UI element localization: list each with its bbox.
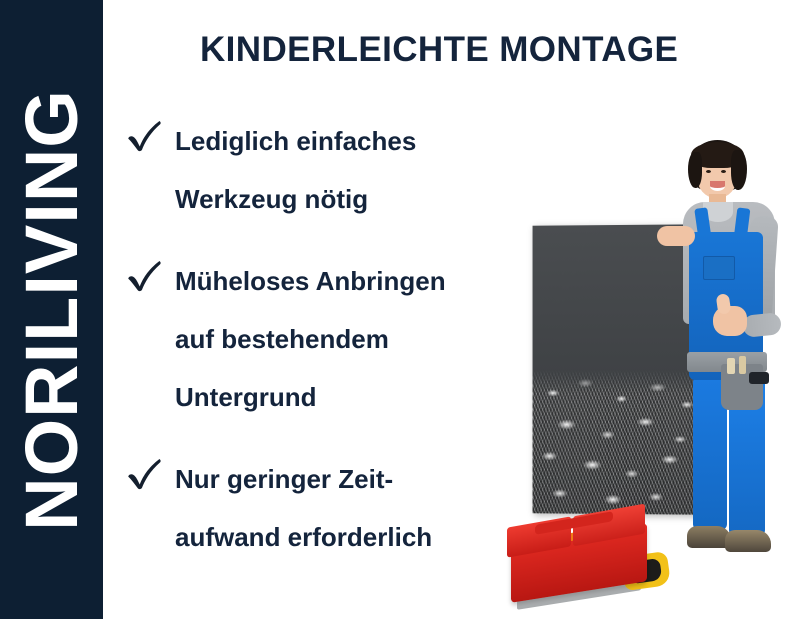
worker-arm-right <box>742 312 782 338</box>
brand-sidebar: NORILIVING <box>0 0 103 619</box>
belt-tool-c <box>749 372 769 384</box>
list-item-line: Untergrund <box>175 368 526 426</box>
list-item-line: Lediglich einfaches <box>175 112 526 170</box>
worker-smile <box>710 181 725 191</box>
page-title: KINDERLEICHTE MONTAGE <box>200 32 678 67</box>
promo-banner: NORILIVING KINDERLEICHTE MONTAGE Ledigli… <box>0 0 799 619</box>
list-item: Lediglich einfaches Werkzeug nötig <box>126 112 526 228</box>
overall-bib-pocket <box>703 256 735 280</box>
list-item-text: Müheloses Anbringen auf bestehendem Unte… <box>175 252 526 426</box>
list-item-line: Nur geringer Zeit- <box>175 450 526 508</box>
worker-eye-right <box>721 170 726 173</box>
product-photo <box>487 110 799 619</box>
worker-shoe-right <box>725 530 771 552</box>
brand-name: NORILIVING <box>15 89 89 531</box>
checkmark-icon <box>126 118 164 152</box>
checkmark-icon <box>126 456 164 490</box>
list-item: Nur geringer Zeit- aufwand erforderlich <box>126 450 526 566</box>
list-item-text: Nur geringer Zeit- aufwand erforderlich <box>175 450 526 566</box>
list-item-line: Müheloses Anbringen <box>175 252 526 310</box>
belt-tool-b <box>739 356 746 374</box>
feature-list: Lediglich einfaches Werkzeug nötig Mühel… <box>126 112 526 566</box>
list-item-line: Werkzeug nötig <box>175 170 526 228</box>
list-item-line: aufwand erforderlich <box>175 508 526 566</box>
toolbox-group <box>505 492 671 610</box>
worker-hair-right <box>731 150 747 190</box>
worker-eye-left <box>706 170 711 173</box>
belt-tool-a <box>727 358 735 374</box>
worker-figure <box>669 128 789 578</box>
worker-hair-left <box>688 152 702 188</box>
list-item-line: auf bestehendem <box>175 310 526 368</box>
list-item: Müheloses Anbringen auf bestehendem Unte… <box>126 252 526 426</box>
list-item-text: Lediglich einfaches Werkzeug nötig <box>175 112 526 228</box>
worker-hand-on-panel <box>657 226 695 246</box>
checkmark-icon <box>126 258 164 292</box>
